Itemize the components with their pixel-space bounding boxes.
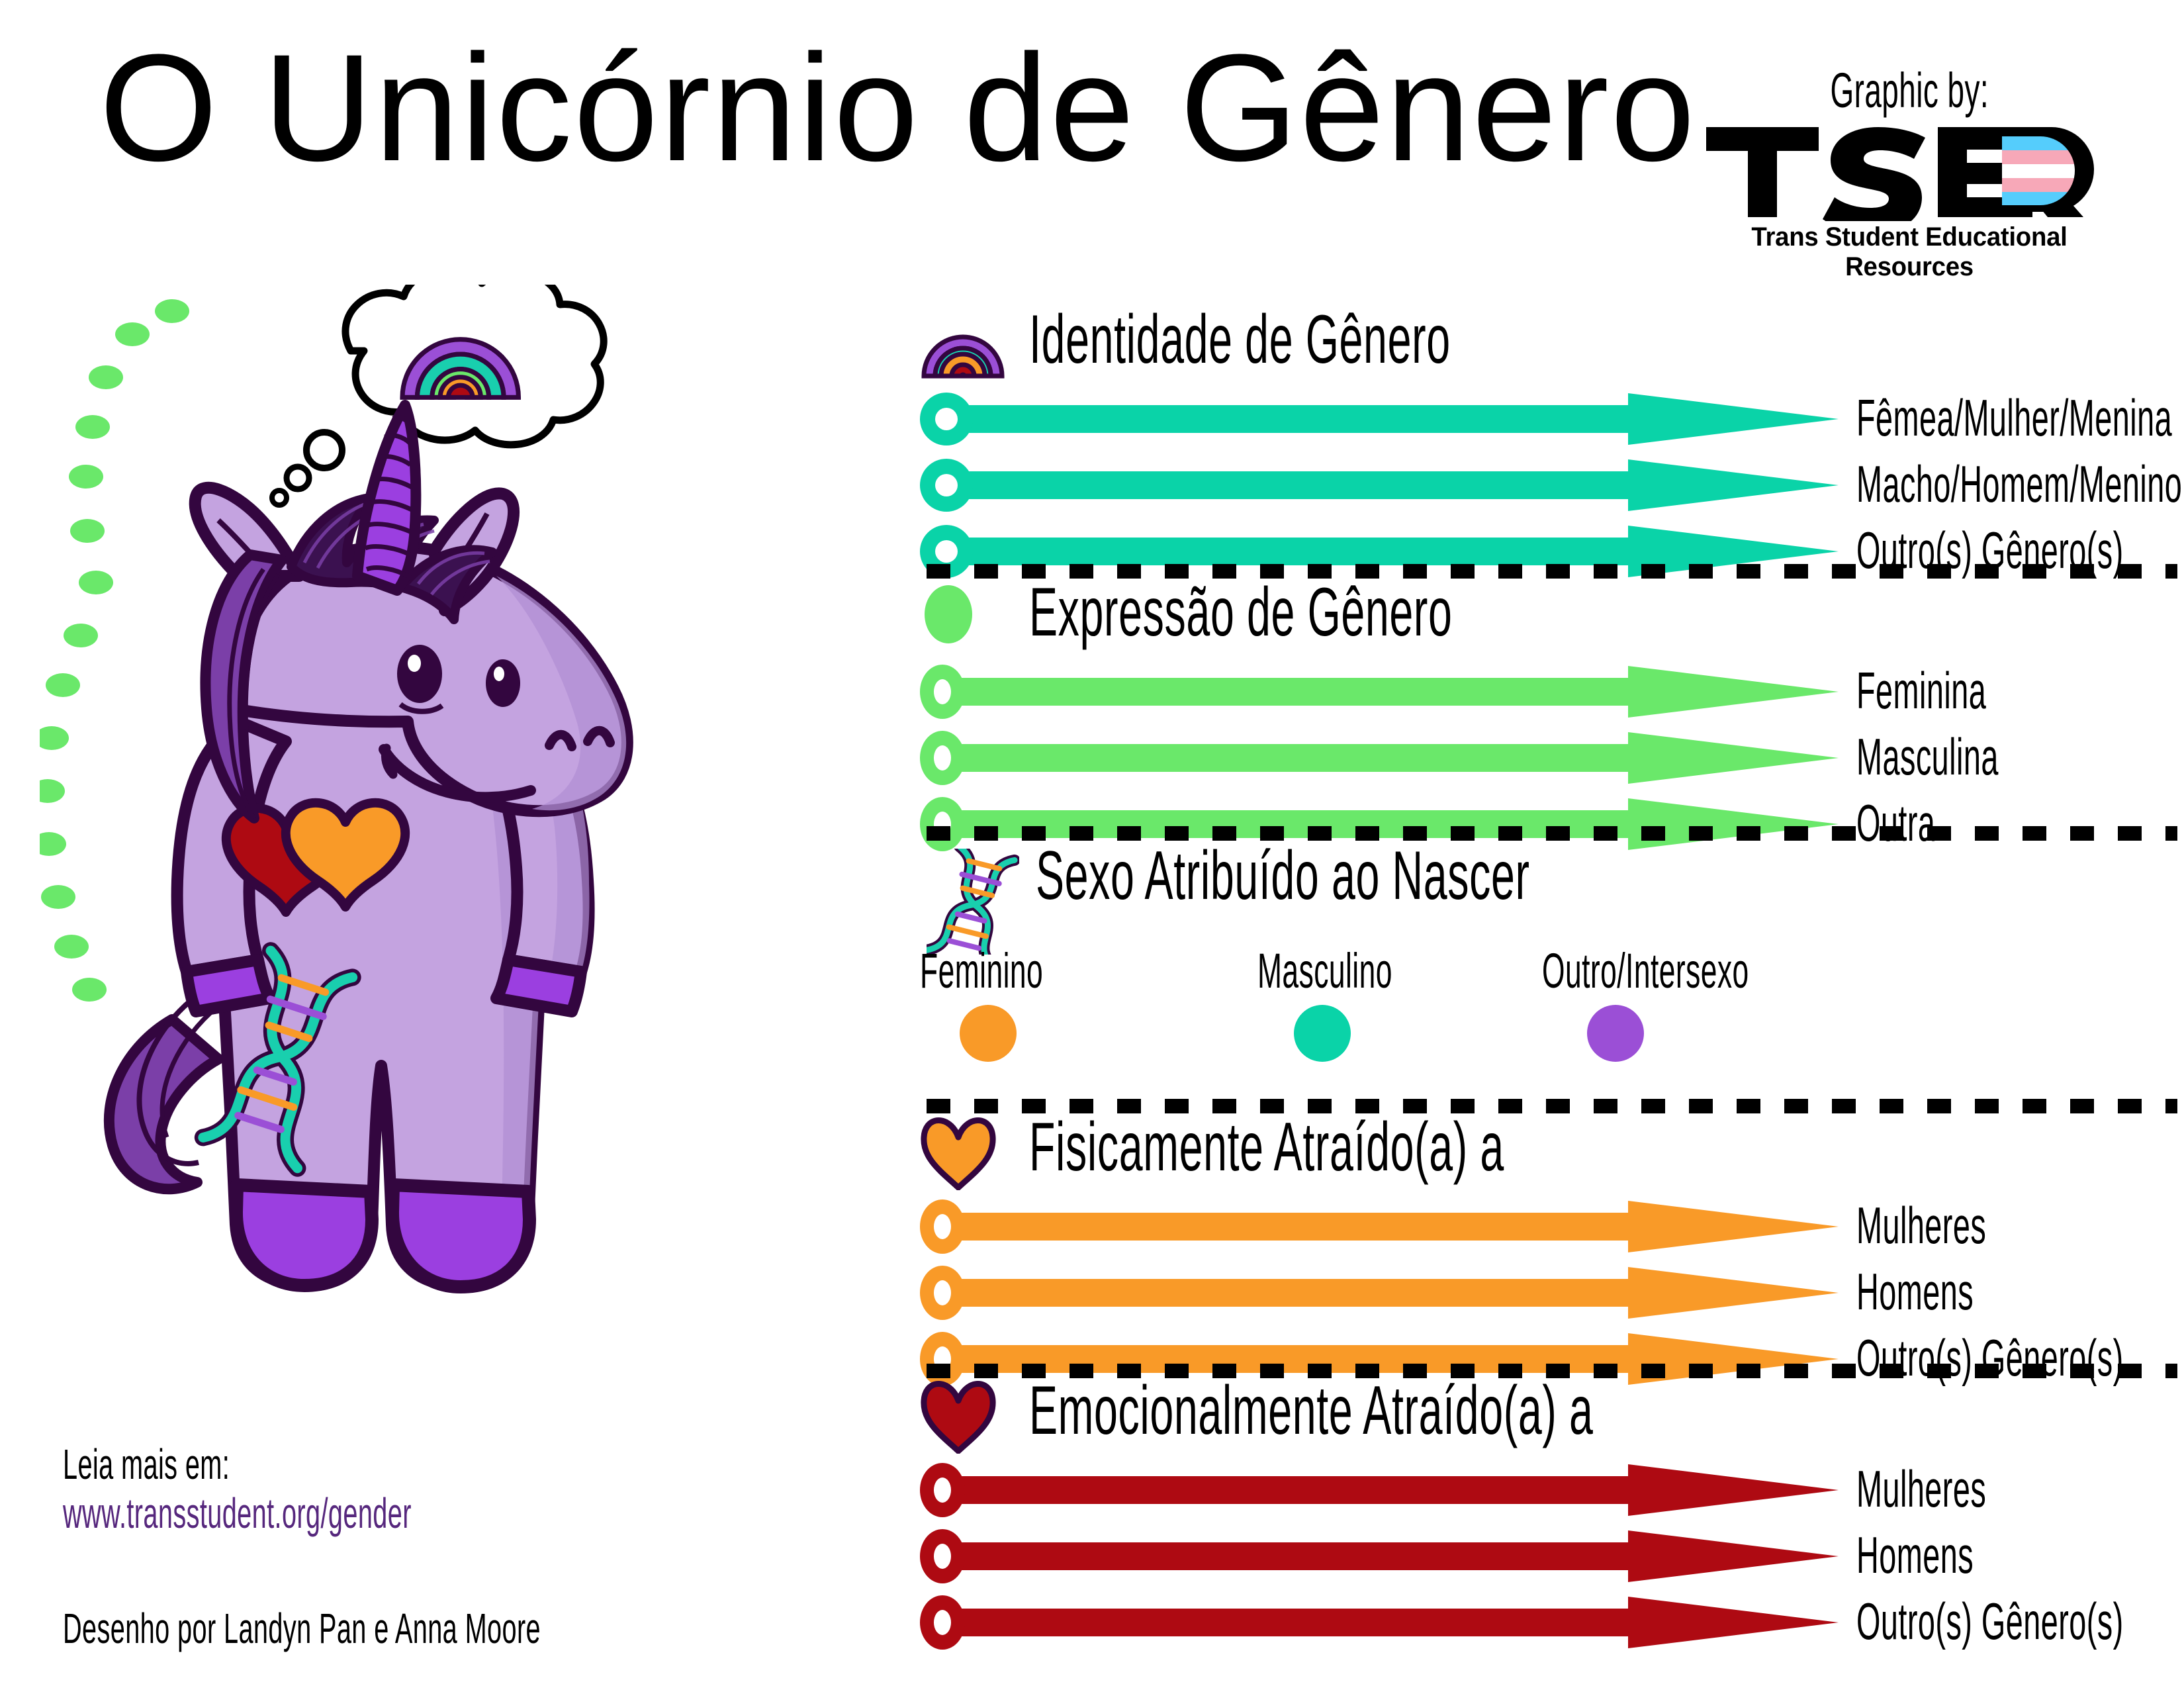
arrow-row: Outro(s) Gênero(s) <box>920 1595 2158 1650</box>
section-title: Fisicamente Atraído(a) a <box>1029 1109 1796 1185</box>
section-header: Fisicamente Atraído(a) a <box>920 1117 2158 1192</box>
arrow-row: Masculina <box>920 731 2158 785</box>
arrow-orange-1 <box>920 1199 1840 1254</box>
arrow-row: Feminina <box>920 665 2158 719</box>
sab-dot-outro-intersexo <box>1587 1005 1644 1062</box>
dark-red-heart-icon <box>920 1381 997 1454</box>
page-title-text: O Unicórnio de Gênero <box>99 23 1696 193</box>
section-sex-assigned-at-birth: Sexo Atribuído ao Nascer <box>920 849 2158 923</box>
arrow-label: Macho/Homem/Menino <box>1856 454 2184 514</box>
arrow-label: Homens <box>1856 1262 2052 1322</box>
tser-subtitle: Trans Student Educational Resources <box>1706 222 2113 282</box>
unicorn-body <box>109 405 627 1287</box>
green-circle-icon <box>920 583 977 653</box>
section-header: Emocionalmente Atraído(a) a <box>920 1381 2158 1455</box>
sab-label-outro-intersexo: Outro/Intersexo <box>1542 943 1887 999</box>
site-url-link[interactable]: www.transstudent.org/gender <box>63 1492 791 1534</box>
sab-dot-feminino <box>960 1005 1017 1062</box>
arrow-label: Mulheres <box>1856 1196 2073 1256</box>
section-title: Identidade de Gênero <box>1029 302 1709 377</box>
footer: Leia mais em: www.transstudent.org/gende… <box>63 1443 791 1656</box>
arrow-darkred-2 <box>920 1529 1840 1583</box>
section-title: Expressão de Gênero <box>1029 575 1711 650</box>
arrow-green-1 <box>920 665 1840 719</box>
section-gender-identity: Identidade de Gênero Fêmea/Mulher/Menina… <box>920 310 2158 579</box>
section-header: Sexo Atribuído ao Nascer <box>920 849 2158 923</box>
sab-dot-row <box>920 1005 2177 1071</box>
section-title: Emocionalmente Atraído(a) a <box>1029 1373 1939 1448</box>
sab-dot-masculino <box>1294 1005 1351 1062</box>
arrow-row: Homens <box>920 1529 2158 1583</box>
orange-heart-icon <box>920 1117 997 1190</box>
sab-label-row: Feminino Masculino Outro/Intersexo <box>920 943 2177 1002</box>
section-gender-expression: Expressão de Gênero Feminina Masculina <box>920 583 2158 851</box>
arrow-label: Homens <box>1856 1525 2052 1585</box>
arrow-green-2 <box>920 731 1840 785</box>
arrow-label: Fêmea/Mulher/Menina <box>1856 388 2184 448</box>
arrow-teal-2 <box>920 458 1840 512</box>
arrow-row: Fêmea/Mulher/Menina <box>920 392 2158 446</box>
arrow-label: Mulheres <box>1856 1459 2073 1519</box>
section-header: Expressão de Gênero <box>920 583 2158 657</box>
arrow-row: Macho/Homem/Menino <box>920 458 2158 512</box>
arrow-label: Outro(s) Gênero(s) <box>1856 1591 2184 1652</box>
arrow-row: Mulheres <box>920 1463 2158 1517</box>
section-title: Sexo Atribuído ao Nascer <box>1036 838 1833 914</box>
arrow-label: Feminina <box>1856 661 2073 721</box>
section-header: Identidade de Gênero <box>920 310 2158 384</box>
arrow-darkred-1 <box>920 1463 1840 1517</box>
arrow-darkred-3 <box>920 1595 1840 1650</box>
unicorn-illustration <box>40 285 887 1383</box>
credit-line: Desenho por Landyn Pan e Anna Moore <box>63 1607 791 1650</box>
arrow-teal-1 <box>920 392 1840 446</box>
green-dot-arc <box>40 299 189 1002</box>
arrow-label: Outra <box>1856 793 1988 853</box>
arrow-orange-2 <box>920 1266 1840 1320</box>
dna-icon <box>927 849 1019 955</box>
arrow-label: Masculina <box>1856 727 2093 787</box>
sab-label-feminino: Feminino <box>920 943 1125 999</box>
arrow-row: Homens <box>920 1266 2158 1320</box>
attribution-block: Graphic by: T <box>1698 66 2121 282</box>
tser-logo <box>1698 122 2121 221</box>
thought-bubble <box>272 285 604 505</box>
arrow-row: Mulheres <box>920 1199 2158 1254</box>
sab-label-masculino: Masculino <box>1257 943 1482 999</box>
page-title: O Unicórnio de Gênero <box>99 32 1696 184</box>
rainbow-icon <box>920 310 1006 380</box>
section-physically-attracted-to: Fisicamente Atraído(a) a Mulheres Homens <box>920 1117 2158 1386</box>
graphic-by-label: Graphic by: <box>1698 66 2121 119</box>
section-emotionally-attracted-to: Emocionalmente Atraído(a) a Mulheres Hom… <box>920 1381 2158 1650</box>
unicorn-horn <box>357 405 416 590</box>
read-more-label: Leia mais em: <box>63 1443 791 1485</box>
